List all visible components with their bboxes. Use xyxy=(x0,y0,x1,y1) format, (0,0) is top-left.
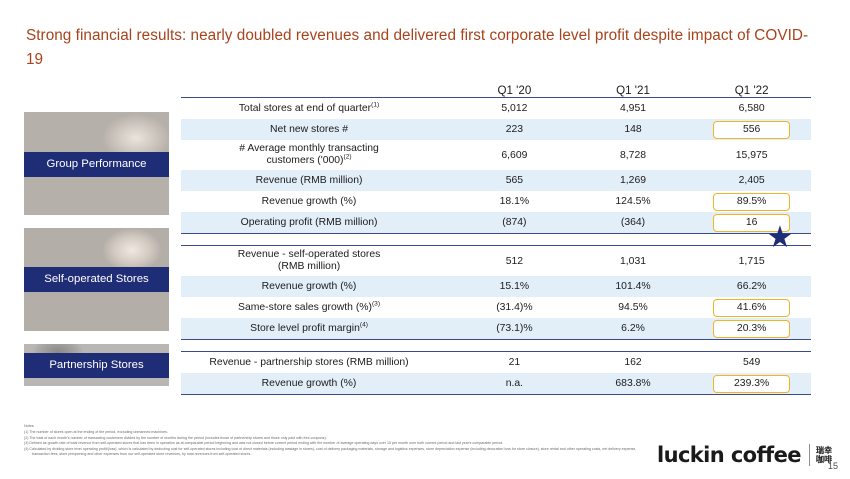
table-row: Net new stores #223148556 xyxy=(181,119,811,140)
table-body: Total stores at end of quarter(1)5,0124,… xyxy=(181,98,811,395)
footnote-marker: (1) xyxy=(371,101,379,108)
table-row: Revenue growth (%)n.a.683.8%239.3% xyxy=(181,373,811,395)
footnote-marker: (2) xyxy=(344,154,352,161)
footnotes-heading: Notes: xyxy=(24,424,644,429)
logo-wordmark: luckin coffee xyxy=(657,443,801,467)
table-cell-value: 6,580 xyxy=(692,98,811,120)
row-label: Revenue growth (%) xyxy=(181,373,455,395)
sidebar: Group Performance Self-operated Stores P… xyxy=(24,112,169,399)
luckin-coffee-logo: luckin coffee 瑞幸 咖啡 xyxy=(657,443,832,467)
column-header-q1-20: Q1 '20 xyxy=(455,76,574,98)
footnote-marker: (4) xyxy=(360,321,368,328)
sidebar-item-label: Group Performance xyxy=(24,152,169,177)
table-cell-value: 2,405 xyxy=(692,170,811,191)
table-block-spacer xyxy=(181,234,811,246)
row-label: Revenue - partnership stores (RMB millio… xyxy=(181,352,455,374)
table-cell-value: 239.3% xyxy=(692,373,811,395)
table-row: Revenue - partnership stores (RMB millio… xyxy=(181,352,811,374)
footnote-marker: (3) xyxy=(372,300,380,307)
table-cell-value: 683.8% xyxy=(574,373,693,395)
logo-divider xyxy=(809,444,810,466)
table-row: Revenue (RMB million)5651,2692,405 xyxy=(181,170,811,191)
table-cell-value: 124.5% xyxy=(574,191,693,212)
footnote-item: (4) Calculated by dividing store level o… xyxy=(24,447,644,458)
row-label: Revenue growth (%) xyxy=(181,276,455,297)
sidebar-item-label: Self-operated Stores xyxy=(24,267,169,292)
table-row: Revenue growth (%)15.1%101.4%66.2% xyxy=(181,276,811,297)
row-label: Revenue (RMB million) xyxy=(181,170,455,191)
table-cell-value: 101.4% xyxy=(574,276,693,297)
table-block-spacer xyxy=(181,340,811,352)
row-label: Same-store sales growth (%)(3) xyxy=(181,297,455,318)
table-cell-value: 66.2% xyxy=(692,276,811,297)
table-cell-value: 223 xyxy=(455,119,574,140)
financial-table: Q1 '20 Q1 '21 Q1 '22 Total stores at end… xyxy=(181,76,811,395)
sidebar-item-self-operated-stores[interactable]: Self-operated Stores xyxy=(24,228,169,331)
table-cell-value: 94.5% xyxy=(574,297,693,318)
table-cell-value: 4,951 xyxy=(574,98,693,120)
table-cell-value: 1,269 xyxy=(574,170,693,191)
table-cell-value: 565 xyxy=(455,170,574,191)
table-cell-value: 18.1% xyxy=(455,191,574,212)
footnotes: Notes: (1) The number of stores open at … xyxy=(24,424,644,458)
table-cell-value: (874) xyxy=(455,212,574,234)
table-row: # Average monthly transactingcustomers (… xyxy=(181,140,811,170)
row-label: Net new stores # xyxy=(181,119,455,140)
table-cell-value: (73.1)% xyxy=(455,318,574,340)
page-title: Strong financial results: nearly doubled… xyxy=(26,24,816,72)
star-icon: ★ xyxy=(766,224,794,252)
table-cell-value: 6,609 xyxy=(455,140,574,170)
table-cell-value: n.a. xyxy=(455,373,574,395)
column-header-q1-22: Q1 '22 xyxy=(692,76,811,98)
table-cell-value: 20.3% xyxy=(692,318,811,340)
table-row: Revenue - self-operated stores(RMB milli… xyxy=(181,246,811,277)
row-label: Operating profit (RMB million) xyxy=(181,212,455,234)
table-cell-value: 512 xyxy=(455,246,574,277)
table-cell-value: 162 xyxy=(574,352,693,374)
table-row: Same-store sales growth (%)(3)(31.4)%94.… xyxy=(181,297,811,318)
table-cell-value: (31.4)% xyxy=(455,297,574,318)
table-cell-value: (364) xyxy=(574,212,693,234)
table-row: Revenue growth (%)18.1%124.5%89.5% xyxy=(181,191,811,212)
table-cell-value: 549 xyxy=(692,352,811,374)
highlighted-value: 20.3% xyxy=(713,320,790,338)
column-header-metric xyxy=(181,76,455,98)
sidebar-item-group-performance[interactable]: Group Performance xyxy=(24,112,169,215)
table-cell-value: 148 xyxy=(574,119,693,140)
footnote-item: (1) The number of stores open at the end… xyxy=(24,430,644,435)
table-cell-value: 5,012 xyxy=(455,98,574,120)
financial-table-area: Q1 '20 Q1 '21 Q1 '22 Total stores at end… xyxy=(181,76,811,395)
highlighted-value: 239.3% xyxy=(713,375,790,393)
table-cell-value: 8,728 xyxy=(574,140,693,170)
table-header-row: Q1 '20 Q1 '21 Q1 '22 xyxy=(181,76,811,98)
row-label: Total stores at end of quarter(1) xyxy=(181,98,455,120)
highlighted-value: 41.6% xyxy=(713,299,790,317)
table-cell-value: 1,031 xyxy=(574,246,693,277)
row-label: Store level profit margin(4) xyxy=(181,318,455,340)
row-label: # Average monthly transactingcustomers (… xyxy=(181,140,455,170)
table-cell-value: 21 xyxy=(455,352,574,374)
table-cell-value: 15,975 xyxy=(692,140,811,170)
table-row: Total stores at end of quarter(1)5,0124,… xyxy=(181,98,811,120)
table-cell-value: 556 xyxy=(692,119,811,140)
footnote-item: (2) The total of each month's number of … xyxy=(24,436,644,441)
table-cell-value: 41.6% xyxy=(692,297,811,318)
table-cell-value: 89.5% xyxy=(692,191,811,212)
footnote-item: (3) Defined as growth rate of total reve… xyxy=(24,441,644,446)
row-label: Revenue growth (%) xyxy=(181,191,455,212)
table-cell-value: 15.1% xyxy=(455,276,574,297)
highlighted-value: 556 xyxy=(713,121,790,139)
sidebar-item-label: Partnership Stores xyxy=(24,353,169,378)
row-label: Revenue - self-operated stores(RMB milli… xyxy=(181,246,455,277)
sidebar-item-partnership-stores[interactable]: Partnership Stores xyxy=(24,344,169,386)
column-header-q1-21: Q1 '21 xyxy=(574,76,693,98)
table-row: Operating profit (RMB million)(874)(364)… xyxy=(181,212,811,234)
table-cell-value: 6.2% xyxy=(574,318,693,340)
table-row: Store level profit margin(4)(73.1)%6.2%2… xyxy=(181,318,811,340)
highlighted-value: 89.5% xyxy=(713,193,790,211)
page-number: 15 xyxy=(828,461,838,471)
